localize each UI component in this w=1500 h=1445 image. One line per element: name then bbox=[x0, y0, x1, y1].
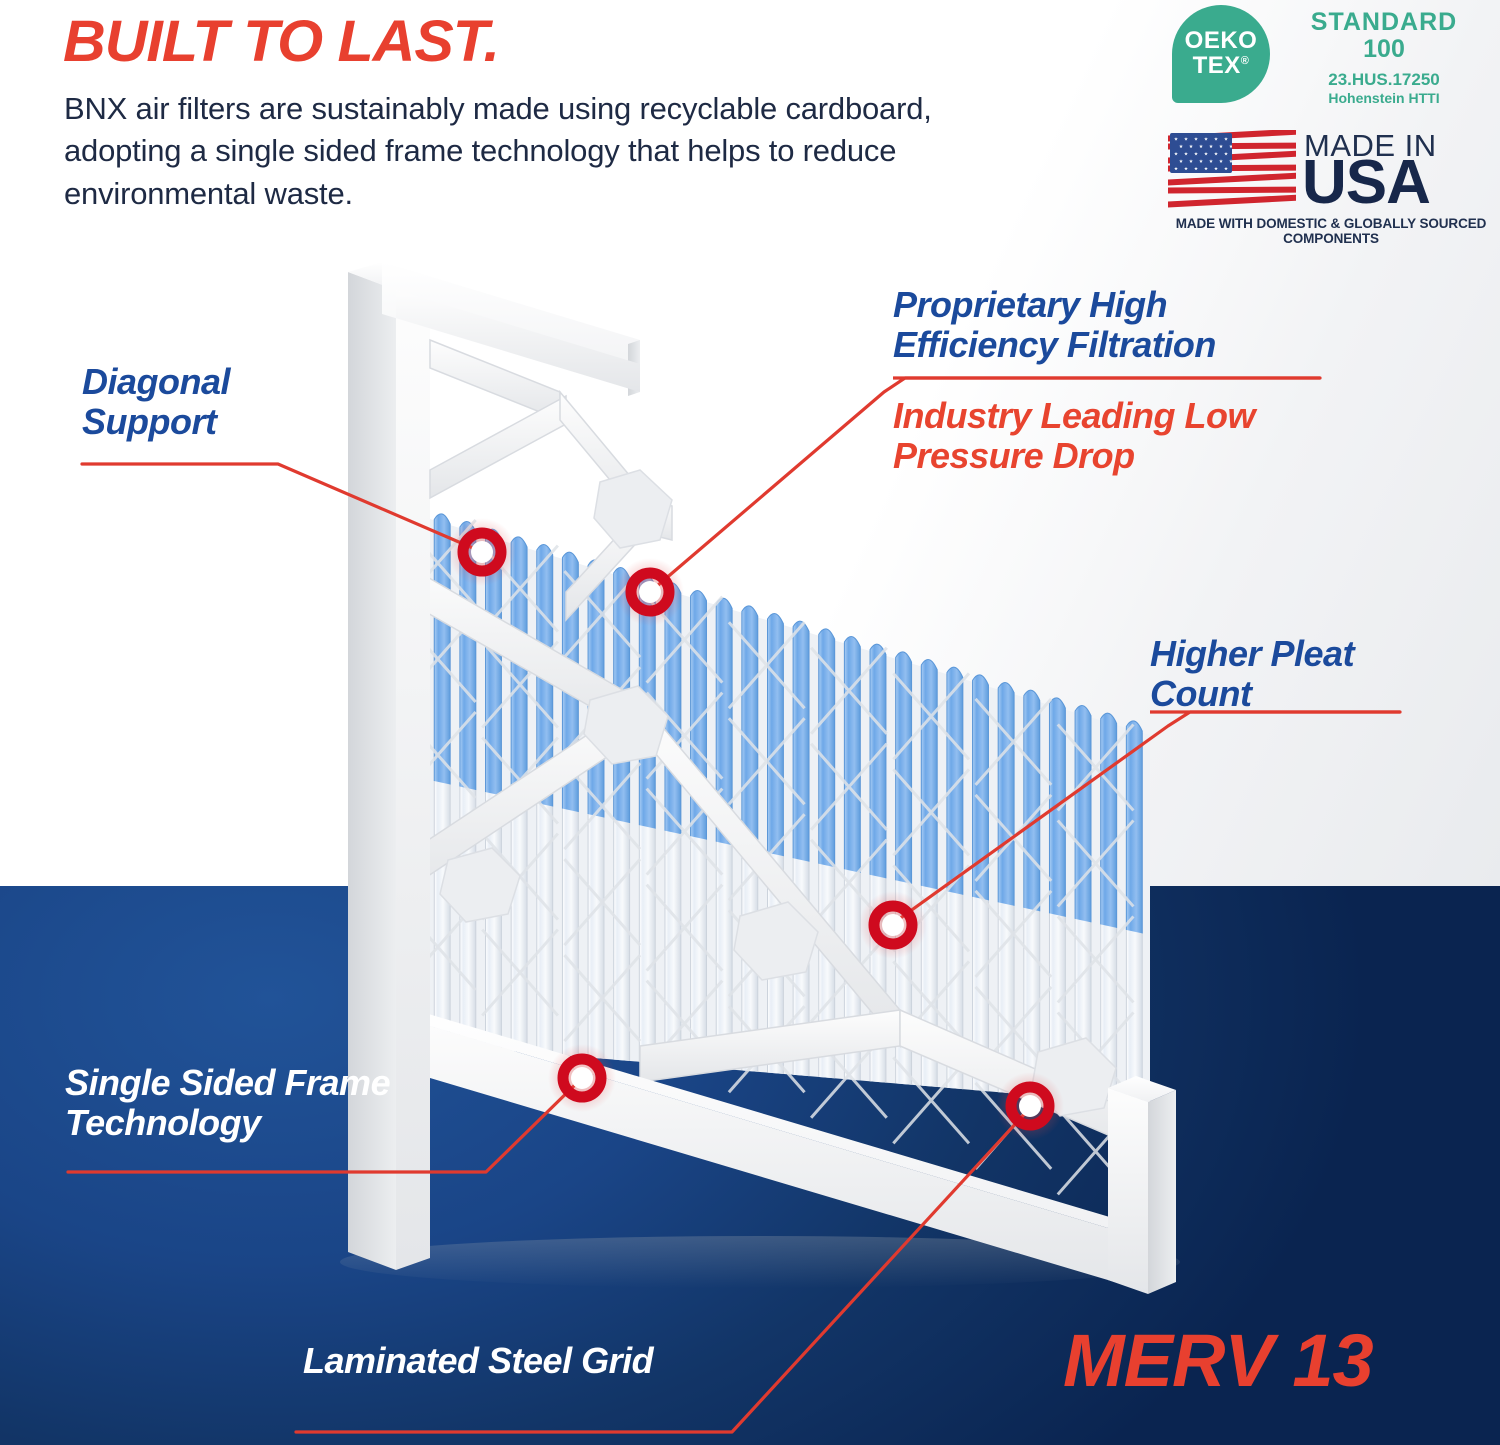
marker-diagonal-support bbox=[448, 518, 516, 586]
callout-laminated-steel-grid: Laminated Steel Grid bbox=[303, 1341, 653, 1381]
merv-rating-label: MERV 13 bbox=[1063, 1324, 1373, 1398]
marker-laminated-steel-grid bbox=[996, 1072, 1064, 1140]
callout-single-sided-frame: Single Sided Frame Technology bbox=[65, 1063, 390, 1142]
callout-higher-pleat-count: Higher Pleat Count bbox=[1150, 634, 1354, 713]
callout-low-pressure-drop: Industry Leading Low Pressure Drop bbox=[893, 396, 1255, 475]
frame-right-endcap bbox=[1108, 1076, 1176, 1294]
air-filter-illustration bbox=[0, 0, 1500, 1445]
callout-diagonal-support: Diagonal Support bbox=[82, 362, 230, 441]
marker-proprietary-filtration bbox=[616, 558, 684, 626]
infographic-stage: BUILT TO LAST. BNX air filters are susta… bbox=[0, 0, 1500, 1445]
marker-higher-pleat-count bbox=[859, 891, 927, 959]
callout-proprietary-filtration: Proprietary High Efficiency Filtration bbox=[893, 285, 1216, 364]
marker-single-sided-frame bbox=[548, 1044, 616, 1112]
